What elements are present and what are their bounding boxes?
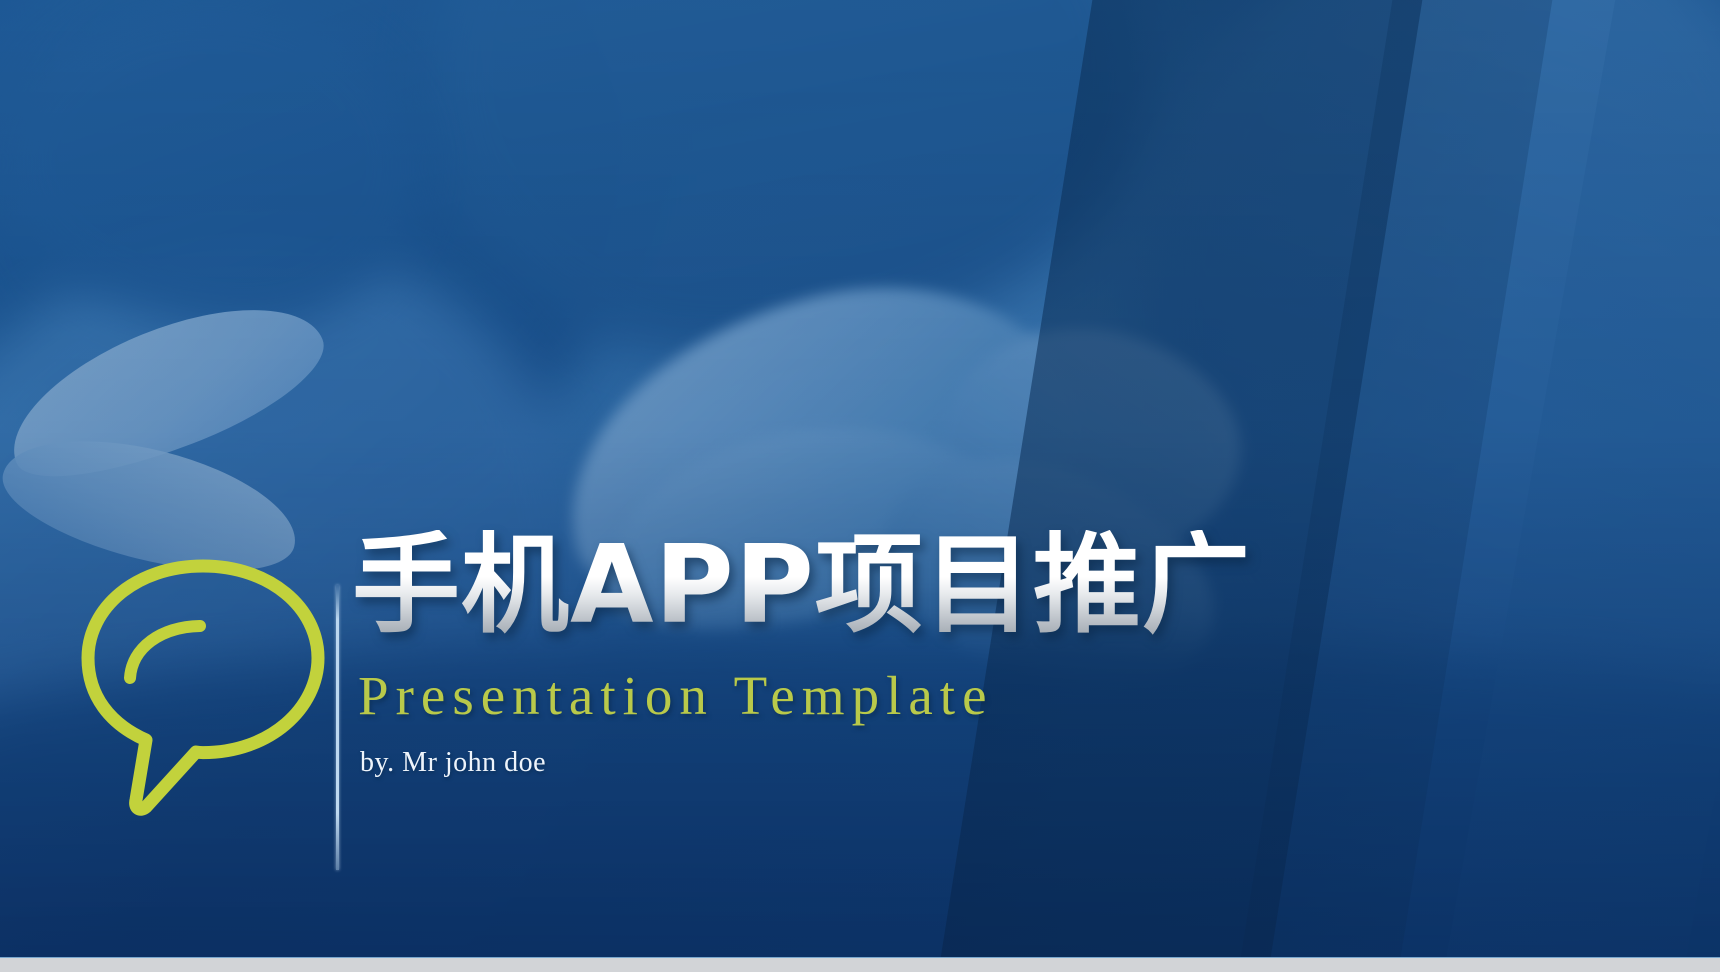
speech-bubble-icon [78,548,328,818]
presentation-slide: 手机APP项目推广 Presentation Template by. Mr j… [0,0,1720,957]
title-text-block: 手机APP项目推广 Presentation Template by. Mr j… [336,530,1251,779]
bottom-status-bar [0,957,1720,972]
page-subtitle: Presentation Template [336,664,1251,727]
speech-bubble-svg [78,548,328,818]
slide-content: 手机APP项目推广 Presentation Template by. Mr j… [0,0,1720,957]
page-title: 手机APP项目推广 [336,530,1251,642]
author-byline: by. Mr john doe [336,747,1251,779]
